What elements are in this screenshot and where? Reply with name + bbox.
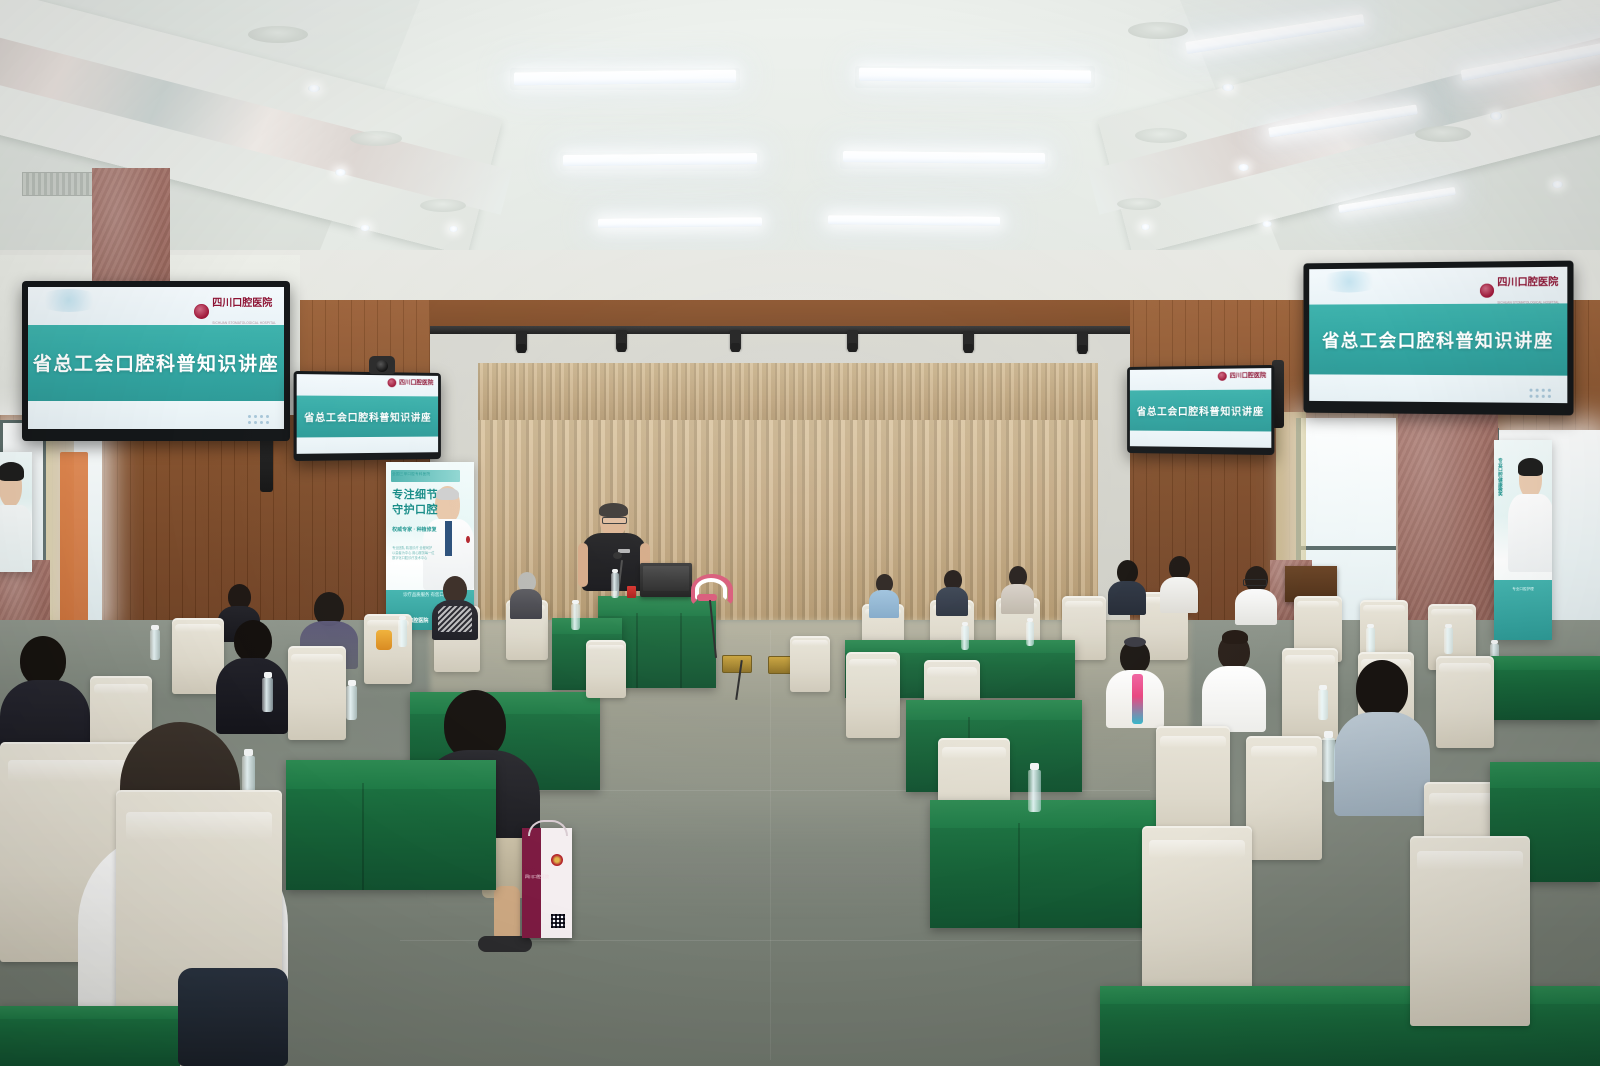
rollup-banner-far-left (0, 452, 32, 572)
portrait-hair (0, 462, 24, 481)
hospital-logo: 四川口腔医院 SICHUAN STOMATOLOGICAL HOSPITAL (194, 293, 276, 329)
portrait-coat (0, 505, 31, 572)
audience-person (432, 576, 478, 636)
ceiling-light-troffer (598, 217, 762, 227)
logo-wordmark: 四川口腔医院 (1230, 373, 1266, 379)
person-head (20, 636, 66, 686)
chair (1246, 736, 1322, 860)
chair (790, 636, 830, 692)
water-bottle (1028, 770, 1041, 812)
person-torso (936, 587, 968, 616)
table-fold (680, 613, 682, 688)
ceiling-speaker-icon (1117, 198, 1161, 210)
logo-wordmark: 四川口腔医院 (212, 298, 272, 309)
person-torso (869, 590, 899, 618)
banner-footer-bar: 专业口腔护理 (1494, 580, 1552, 640)
table-top (0, 1006, 180, 1019)
water-bottle (961, 626, 969, 650)
logo-subtitle: SICHUAN STOMATOLOGICAL HOSPITAL (1497, 300, 1559, 304)
downlight-icon (1222, 84, 1234, 91)
audience-person (216, 620, 288, 730)
person-head (1356, 660, 1408, 718)
chair (1410, 836, 1530, 1026)
table-top (845, 640, 1075, 653)
stage-curtain-valance (478, 363, 1098, 425)
patterned-top (438, 606, 472, 632)
water-bottle (150, 630, 160, 660)
slide-footer (1130, 431, 1271, 448)
downlight-icon (449, 226, 458, 232)
chair (1142, 826, 1252, 1006)
person-head (234, 620, 272, 662)
downlight-icon (308, 85, 320, 92)
slide-footer (297, 437, 438, 454)
bag-qr-code (551, 914, 565, 928)
slide-footer (1309, 375, 1567, 404)
water-bottle (1366, 628, 1375, 654)
microphone-icon (613, 552, 622, 559)
audience-person (1235, 566, 1277, 622)
table-top (286, 760, 496, 789)
bottle-cap (1030, 763, 1039, 770)
slide-footer (28, 401, 284, 429)
juice-bottle (376, 630, 392, 650)
bottle-cap (264, 672, 272, 678)
orange-curtain-left (60, 452, 88, 622)
logo-mark-icon (388, 378, 397, 387)
slide-header: 四川口腔医院 SICHUAN STOMATOLOGICAL HOSPITAL (28, 287, 284, 325)
audience-table (1484, 656, 1600, 720)
portrait-tie (445, 521, 453, 556)
window-mullion (1300, 546, 1396, 550)
water-bottle (398, 620, 407, 647)
table-top (552, 618, 622, 634)
track-light (730, 330, 741, 350)
ceiling-light-troffer (514, 70, 736, 86)
floor-power-socket (722, 655, 752, 673)
track-light (1077, 332, 1088, 352)
hospital-logo: 四川口腔医院 (388, 378, 434, 387)
slide-decor-blob (1317, 271, 1383, 293)
banner-headline: 专业口腔 健康微笑 (1497, 458, 1503, 496)
hair-bun (1222, 630, 1248, 644)
audience-person (510, 572, 542, 616)
audience-person (1202, 634, 1266, 730)
table-top (1484, 656, 1600, 670)
bag-brand: 四川口腔医院 (525, 874, 555, 879)
bottle-cap (1491, 640, 1498, 644)
logo-mark-icon (194, 304, 209, 319)
audience-table (0, 1006, 180, 1066)
presenter-hair (599, 503, 628, 517)
audience-person (936, 570, 968, 614)
bottle-cap (348, 680, 356, 686)
chair (1436, 656, 1494, 748)
logo-subtitle: SICHUAN STOMATOLOGICAL HOSPITAL (212, 321, 276, 325)
table-fold (362, 783, 364, 890)
bottle-cap (612, 569, 618, 573)
ceiling-speaker-icon (1135, 128, 1187, 143)
stage-light-rail (430, 326, 1130, 334)
table-fold (1018, 823, 1020, 928)
table-top (1490, 762, 1600, 788)
downlight-icon (360, 225, 370, 231)
downlight-icon (1490, 112, 1502, 120)
glasses-icon (1243, 579, 1267, 586)
water-bottle (1318, 690, 1328, 720)
beverage-can (627, 586, 636, 598)
water-bottle (571, 604, 580, 630)
person-torso (1001, 584, 1034, 614)
bottle-cap (1445, 624, 1452, 628)
display-outer-left[interactable]: 四川口腔医院 SICHUAN STOMATOLOGICAL HOSPITAL 省… (22, 281, 290, 441)
slide-dot-grid (248, 415, 269, 424)
ceiling-light-troffer (828, 215, 1000, 226)
water-bottle (346, 686, 357, 720)
audience-person (1160, 556, 1198, 610)
laptop[interactable] (640, 563, 692, 597)
bottle-cap (399, 616, 406, 620)
audience-person (1108, 560, 1146, 612)
lecture-hall-photo: 四川口腔医院 SICHUAN STOMATOLOGICAL HOSPITAL 省… (0, 0, 1600, 1066)
audience-table (286, 760, 496, 890)
backpack (178, 968, 288, 1066)
downlight-icon (1552, 181, 1563, 188)
hair-scrunchie (1124, 637, 1146, 647)
dental-jaw-model (691, 570, 723, 600)
downlight-icon (1262, 221, 1272, 227)
slide-title-band: 省总工会口腔科普知识讲座 (297, 396, 438, 438)
hospital-logo: 四川口腔医院 SICHUAN STOMATOLOGICAL HOSPITAL (1480, 272, 1559, 309)
banner-headline-2: 守护口腔 (392, 504, 438, 517)
slide-title: 省总工会口腔科普知识讲座 (33, 349, 279, 376)
person-torso (510, 589, 542, 619)
lanyard-strap (1132, 674, 1143, 724)
banner-portrait (1507, 460, 1552, 572)
logo-mark-icon (1480, 284, 1494, 298)
downlight-icon (335, 169, 346, 176)
chair (846, 652, 900, 738)
slide-title: 省总工会口腔科普知识讲座 (1137, 403, 1264, 418)
water-bottle (611, 573, 619, 598)
audience-person-child (1106, 640, 1164, 726)
slide-header: 四川口腔医院 SICHUAN STOMATOLOGICAL HOSPITAL (1309, 267, 1567, 305)
logo-wordmark: 四川口腔医院 (1497, 277, 1558, 289)
ceiling-speaker-icon (1415, 126, 1471, 142)
audience-person (1001, 566, 1034, 612)
water-bottle (1444, 628, 1453, 654)
bottle-cap (962, 622, 968, 626)
track-light (963, 331, 974, 351)
bag-emblem-icon (551, 854, 563, 866)
slide-title-band: 省总工会口腔科普知识讲座 (28, 325, 284, 400)
chair (586, 640, 626, 698)
slide-title-band: 省总工会口腔科普知识讲座 (1130, 390, 1271, 432)
display-outer-right[interactable]: 四川口腔医院 SICHUAN STOMATOLOGICAL HOSPITAL 省… (1303, 261, 1573, 416)
ceiling-light-troffer (843, 151, 1045, 164)
water-bottle (1026, 622, 1034, 646)
rollup-banner-right: 专业口腔 健康微笑 专业口腔护理 (1494, 440, 1552, 640)
jaw-base (697, 594, 717, 601)
bottle-cap (151, 625, 159, 630)
slide-title: 省总工会口腔科普知识讲座 (1322, 327, 1554, 353)
bottle-cap (1319, 685, 1327, 690)
banner-top-line: 全国三甲口腔专科医院 (392, 472, 430, 477)
logo-mark-icon (1218, 372, 1227, 381)
portrait-coat (1508, 494, 1552, 572)
bottle-cap (1027, 618, 1033, 622)
slide-dot-grid (1530, 389, 1551, 398)
ceiling-speaker-icon (350, 131, 402, 146)
chair (288, 646, 346, 740)
ptz-camera-icon (369, 356, 395, 374)
downlight-icon (1141, 224, 1150, 230)
downlight-icon (1238, 164, 1249, 171)
presenter-arm-left (578, 543, 588, 587)
person-torso (1235, 589, 1277, 625)
person-torso (1334, 712, 1430, 816)
person-torso (1202, 666, 1266, 732)
table-top (906, 700, 1082, 720)
track-light (516, 331, 527, 351)
bottle-cap (572, 600, 579, 604)
gift-bag: 四川口腔医院 (522, 828, 572, 938)
hvac-grille (22, 172, 96, 196)
slide-header: 四川口腔医院 (297, 374, 438, 396)
ceiling-speaker-icon (1128, 22, 1188, 39)
sandal (478, 936, 532, 952)
banner-subtitle: 权威专家 · 种植修复 (392, 526, 436, 533)
slide-decor-blob (36, 289, 103, 312)
banner-headline-1: 专注细节 (392, 489, 438, 502)
slide-title-band: 省总工会口腔科普知识讲座 (1309, 304, 1567, 376)
banner-body: 专业团队 精准诊疗 全程呵护 以患者为中心 用心服务每一位 数字化口腔诊疗技术中… (392, 546, 434, 560)
ceiling-speaker-icon (420, 199, 466, 212)
water-bottle (262, 678, 273, 712)
audience-person (1334, 660, 1430, 810)
display-inner-right[interactable]: 四川口腔医院 省总工会口腔科普知识讲座 (1127, 365, 1274, 455)
audience-person (869, 574, 899, 616)
glasses-icon (602, 517, 627, 524)
track-light (616, 330, 627, 350)
bottle-cap (1367, 624, 1374, 628)
floor-seam (770, 630, 771, 1060)
hospital-logo: 四川口腔医院 (1218, 371, 1266, 381)
person-torso (1108, 581, 1146, 615)
slide-header: 四川口腔医院 (1130, 368, 1271, 390)
track-light (847, 330, 858, 350)
slide-title: 省总工会口腔科普知识讲座 (304, 409, 431, 424)
water-bottle (1322, 738, 1335, 782)
ceiling-light-troffer (563, 153, 757, 166)
portrait-hair (1518, 458, 1543, 476)
person-torso (1160, 577, 1198, 613)
person-leg (494, 886, 520, 942)
table-fold (636, 613, 638, 688)
display-inner-left[interactable]: 四川口腔医院 省总工会口腔科普知识讲座 (294, 371, 441, 461)
banner-footer-text: 专业口腔护理 (1512, 587, 1534, 592)
audience-table (930, 800, 1170, 928)
chair (1282, 648, 1338, 740)
logo-wordmark: 四川口腔医院 (399, 380, 433, 386)
table-top (930, 800, 1170, 828)
portrait-hair (436, 488, 459, 500)
ceiling-speaker-icon (248, 26, 308, 43)
bottle-cap (1324, 731, 1333, 738)
